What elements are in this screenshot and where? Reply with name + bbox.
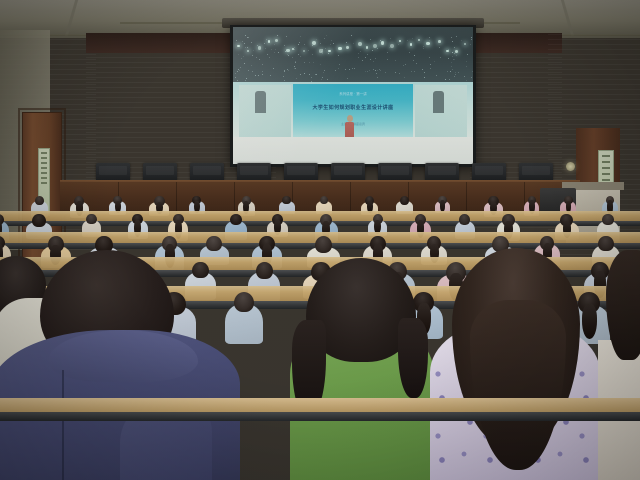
audience-person-head: [602, 214, 614, 225]
stage-chair: [237, 163, 271, 181]
audience-person-head: [32, 214, 46, 227]
audience-person-head: [86, 214, 97, 224]
stage-chair: [472, 163, 506, 180]
foreground-person-navy-seam: [62, 370, 64, 480]
audience-person-head: [400, 196, 409, 205]
stage-chair: [425, 163, 459, 181]
audience-person-head: [282, 196, 291, 204]
screen-glare: [233, 27, 473, 164]
stage-chair: [284, 163, 318, 180]
audience-person-head: [315, 236, 333, 253]
audience-person-head: [234, 292, 255, 312]
audience-person-head: [35, 196, 44, 205]
lecture-hall-photo: 系列讲座 · 第一讲 大学生如何规划职业生涯设计讲座 主讲人：讲座嘉宾: [0, 0, 640, 480]
stage-chair: [96, 163, 130, 180]
stage-chair: [331, 163, 365, 181]
audience-person-head: [192, 262, 209, 278]
stage-chair: [519, 163, 553, 181]
audience-person-head: [230, 214, 242, 225]
audience-person-hair: [582, 304, 597, 339]
projection-screen: 系列讲座 · 第一讲 大学生如何规划职业生涯设计讲座 主讲人：讲座嘉宾: [233, 27, 473, 164]
audience-person-head: [256, 262, 273, 279]
foreground-person-edge-right-head: [606, 250, 640, 360]
stage-chair: [190, 163, 224, 180]
audience-person-hair: [440, 200, 445, 211]
near-desk-edge: [0, 412, 640, 421]
audience-person-head: [206, 236, 222, 251]
stage-chair: [143, 163, 177, 181]
audience-person-head: [459, 214, 470, 225]
wall-lamp-icon: [566, 162, 575, 171]
stage-chair: [378, 163, 412, 180]
foreground-person-green-hair-right: [398, 318, 428, 398]
audience-person-head: [598, 236, 614, 251]
